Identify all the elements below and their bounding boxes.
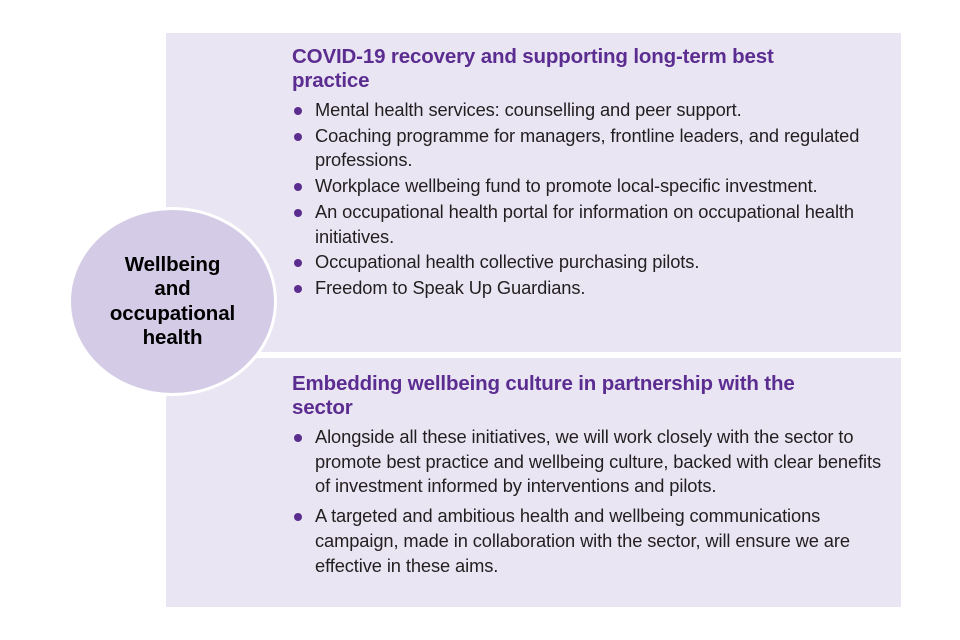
- bullet-dot-icon: [294, 209, 302, 217]
- section-content-embedding: Embedding wellbeing culture in partnersh…: [292, 372, 891, 583]
- circle-node-label: Wellbeing and occupational health: [110, 253, 235, 351]
- list-item-text: Occupational health collective purchasin…: [315, 251, 699, 272]
- list-item: Workplace wellbeing fund to promote loca…: [292, 174, 891, 199]
- circle-node-wellbeing: Wellbeing and occupational health: [68, 207, 277, 396]
- bullet-dot-icon: [294, 183, 302, 191]
- list-item: Alongside all these initiatives, we will…: [292, 425, 891, 499]
- bullet-list-embedding: Alongside all these initiatives, we will…: [292, 425, 891, 578]
- infographic-diagram: COVID-19 recovery and supporting long-te…: [0, 0, 960, 640]
- list-item-text: Alongside all these initiatives, we will…: [315, 426, 881, 496]
- list-item: Freedom to Speak Up Guardians.: [292, 276, 891, 301]
- list-item-text: Workplace wellbeing fund to promote loca…: [315, 175, 818, 196]
- list-item-text: Freedom to Speak Up Guardians.: [315, 277, 585, 298]
- list-item-text: Mental health services: counselling and …: [315, 99, 742, 120]
- list-item: Mental health services: counselling and …: [292, 98, 891, 123]
- list-item: An occupational health portal for inform…: [292, 200, 891, 249]
- section-heading-embedding: Embedding wellbeing culture in partnersh…: [292, 372, 832, 419]
- section-panel-embedding: Embedding wellbeing culture in partnersh…: [166, 358, 901, 607]
- bullet-dot-icon: [294, 259, 302, 267]
- list-item: Occupational health collective purchasin…: [292, 250, 891, 275]
- list-item-text: Coaching programme for managers, frontli…: [315, 125, 859, 171]
- section-content-recovery: COVID-19 recovery and supporting long-te…: [292, 45, 891, 302]
- list-item-text: A targeted and ambitious health and well…: [315, 505, 850, 575]
- list-item: Coaching programme for managers, frontli…: [292, 124, 891, 173]
- bullet-dot-icon: [294, 285, 302, 293]
- bullet-dot-icon: [294, 133, 302, 141]
- list-item-text: An occupational health portal for inform…: [315, 201, 854, 247]
- bullet-dot-icon: [294, 513, 302, 521]
- list-item: A targeted and ambitious health and well…: [292, 504, 891, 578]
- section-heading-recovery: COVID-19 recovery and supporting long-te…: [292, 45, 792, 92]
- bullet-dot-icon: [294, 107, 302, 115]
- bullet-dot-icon: [294, 434, 302, 442]
- bullet-list-recovery: Mental health services: counselling and …: [292, 98, 891, 301]
